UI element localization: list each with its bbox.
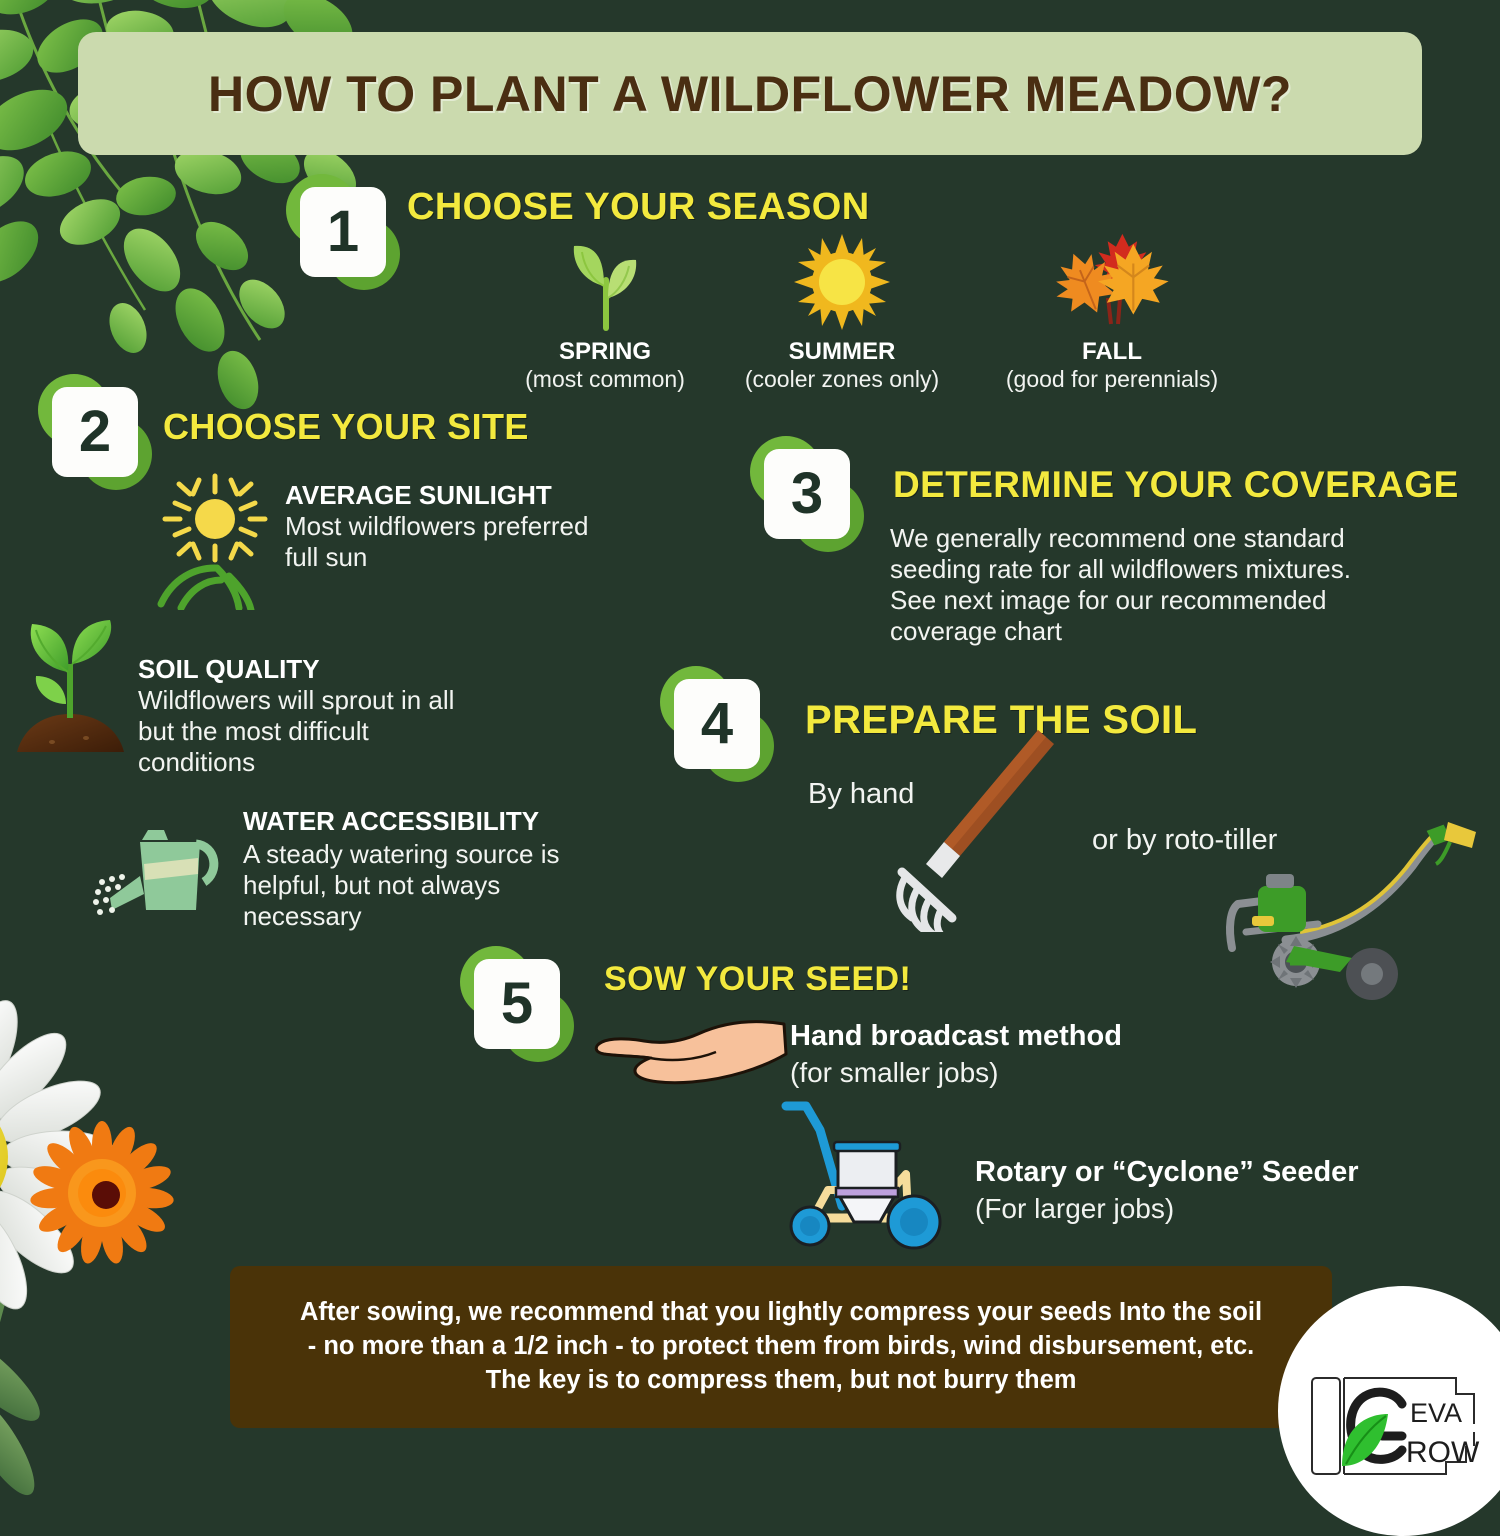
factor-title-sunlight: AVERAGE SUNLIGHT bbox=[285, 480, 552, 511]
factor-line-soil-1: Wildflowers will sprout in all bbox=[138, 684, 454, 717]
step-number-4: 4 bbox=[701, 695, 733, 753]
step-badge-1: 1 bbox=[288, 176, 398, 288]
watering-can-icon bbox=[88, 824, 238, 934]
factor-line-sunlight-1: Most wildflowers preferred bbox=[285, 510, 588, 543]
step-badge-2: 2 bbox=[40, 376, 150, 488]
factor-line-soil-3: conditions bbox=[138, 746, 255, 779]
maple-leaves-icon bbox=[1048, 228, 1174, 332]
step-4-method-label-tiller: or by roto-tiller bbox=[1092, 822, 1277, 859]
step-2-heading: CHOOSE YOUR SITE bbox=[163, 406, 529, 448]
sun-over-grass-icon bbox=[155, 468, 285, 610]
step-number-3: 3 bbox=[791, 465, 823, 523]
seedling-icon bbox=[552, 236, 660, 332]
step-number-5: 5 bbox=[501, 975, 533, 1033]
page-title: HOW TO PLANT A WILDFLOWER MEADOW? bbox=[208, 65, 1292, 123]
badge-card: 2 bbox=[52, 387, 138, 477]
badge-card: 1 bbox=[300, 187, 386, 277]
season-note-summer: (cooler zones only) bbox=[730, 366, 954, 393]
bottom-note-line-1: After sowing, we recommend that you ligh… bbox=[300, 1296, 1262, 1330]
step-5-method-title-hand: Hand broadcast method bbox=[790, 1020, 1122, 1053]
badge-card: 4 bbox=[674, 679, 760, 769]
bottom-note-box: After sowing, we recommend that you ligh… bbox=[230, 1266, 1332, 1428]
factor-line-water-2: helpful, but not always bbox=[243, 869, 500, 902]
badge-card: 5 bbox=[474, 959, 560, 1049]
step-5-heading: SOW YOUR SEED! bbox=[604, 960, 911, 999]
factor-line-water-3: necessary bbox=[243, 900, 362, 933]
step-3-line-4: coverage chart bbox=[890, 615, 1062, 648]
rotary-seeder-icon bbox=[772, 1094, 982, 1254]
factor-line-sunlight-2: full sun bbox=[285, 541, 367, 574]
step-number-1: 1 bbox=[327, 203, 359, 261]
step-5-method-title-rotary: Rotary or “Cyclone” Seeder bbox=[975, 1156, 1359, 1189]
brand-logo: EVA ROW bbox=[1252, 1322, 1500, 1500]
season-name-spring: SPRING bbox=[505, 338, 705, 366]
geva-grow-logo-icon: EVA ROW bbox=[1306, 1370, 1486, 1482]
sprout-in-soil-icon bbox=[12, 620, 132, 760]
bottom-note-text: After sowing, we recommend that you ligh… bbox=[282, 1296, 1280, 1398]
logo-line-2: ROW bbox=[1406, 1436, 1480, 1469]
season-note-fall: (good for perennials) bbox=[1000, 366, 1224, 393]
factor-title-water: WATER ACCESSIBILITY bbox=[243, 806, 539, 837]
step-number-2: 2 bbox=[79, 403, 111, 461]
step-3-heading: DETERMINE YOUR COVERAGE bbox=[893, 464, 1459, 506]
factor-title-soil: SOIL QUALITY bbox=[138, 654, 320, 685]
step-5-method-note-rotary: (For larger jobs) bbox=[975, 1191, 1174, 1227]
bottom-note-line-3: The key is to compress them, but not bur… bbox=[300, 1364, 1262, 1398]
badge-card: 3 bbox=[764, 449, 850, 539]
rake-icon bbox=[890, 722, 1070, 932]
factor-line-soil-2: but the most difficult bbox=[138, 715, 369, 748]
step-badge-5: 5 bbox=[462, 948, 572, 1060]
page-title-box: HOW TO PLANT A WILDFLOWER MEADOW? bbox=[78, 32, 1422, 155]
bottom-note-line-2: - no more than a 1/2 inch - to protect t… bbox=[300, 1330, 1262, 1364]
logo-line-1: EVA bbox=[1410, 1398, 1462, 1428]
season-name-summer: SUMMER bbox=[740, 338, 944, 366]
step-5-method-note-hand: (for smaller jobs) bbox=[790, 1055, 998, 1091]
step-badge-4: 4 bbox=[662, 668, 772, 780]
season-name-fall: FALL bbox=[1010, 338, 1214, 366]
step-1-heading: CHOOSE YOUR SEASON bbox=[407, 186, 870, 229]
factor-line-water-1: A steady watering source is bbox=[243, 838, 560, 871]
infographic-canvas: HOW TO PLANT A WILDFLOWER MEADOW? 1 CHOO… bbox=[0, 0, 1500, 1500]
step-4-method-label-hand: By hand bbox=[808, 776, 914, 813]
step-3-line-2: seeding rate for all wildflowers mixture… bbox=[890, 553, 1351, 586]
step-badge-3: 3 bbox=[752, 438, 862, 550]
step-3-line-3: See next image for our recommended bbox=[890, 584, 1326, 617]
season-note-spring: (most common) bbox=[495, 366, 715, 393]
open-hand-icon bbox=[588, 1010, 788, 1092]
step-3-line-1: We generally recommend one standard bbox=[890, 522, 1345, 555]
sun-icon bbox=[792, 232, 892, 332]
step-4-heading: PREPARE THE SOIL bbox=[805, 698, 1197, 743]
